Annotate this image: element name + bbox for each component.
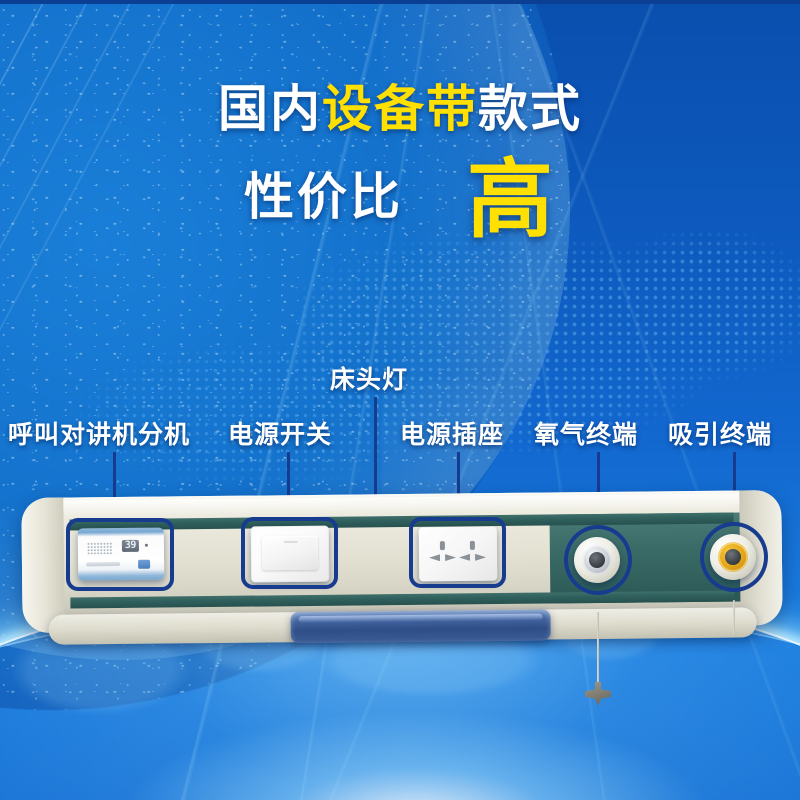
callout-label-oxygen-terminal: 氧气终端 bbox=[534, 415, 638, 451]
highlight-box-power-socket bbox=[409, 517, 506, 588]
lamp-highlight bbox=[299, 614, 543, 624]
panel-endcap-left bbox=[21, 498, 64, 633]
highlight-circle-oxygen bbox=[564, 525, 632, 595]
headline-seg-2: 设备带 bbox=[322, 81, 478, 137]
highlight-box-power-switch bbox=[241, 517, 338, 589]
callout-label-intercom: 呼叫对讲机分机 bbox=[8, 415, 190, 451]
headline-emphasis-char: 高 bbox=[467, 164, 556, 237]
call-cord[interactable] bbox=[597, 612, 599, 690]
callout-label-bed-lamp: 床头灯 bbox=[330, 360, 408, 396]
promo-banner: 国内设备带款式 性价比 高 呼叫对讲机分机 电源开关 床头灯 电源插座 氧气终端… bbox=[0, 0, 800, 800]
highlight-box-intercom bbox=[66, 518, 174, 591]
top-edge-bar bbox=[0, 0, 800, 4]
callout-label-power-switch: 电源开关 bbox=[228, 415, 332, 451]
highlight-circle-suction bbox=[700, 522, 768, 592]
headline-line-2: 性价比 高 bbox=[0, 160, 800, 233]
headline-seg-3: 款式 bbox=[478, 81, 582, 137]
headline-block: 国内设备带款式 性价比 高 bbox=[0, 84, 800, 233]
headline-value-text: 性价比 bbox=[244, 172, 403, 222]
headline-line-1: 国内设备带款式 bbox=[0, 84, 800, 134]
bed-head-lamp[interactable] bbox=[291, 609, 551, 643]
headline-seg-1: 国内 bbox=[218, 81, 322, 137]
callout-label-power-socket: 电源插座 bbox=[400, 415, 504, 451]
callout-label-suction-terminal: 吸引终端 bbox=[668, 415, 772, 451]
suction-drain-tube bbox=[733, 600, 735, 634]
